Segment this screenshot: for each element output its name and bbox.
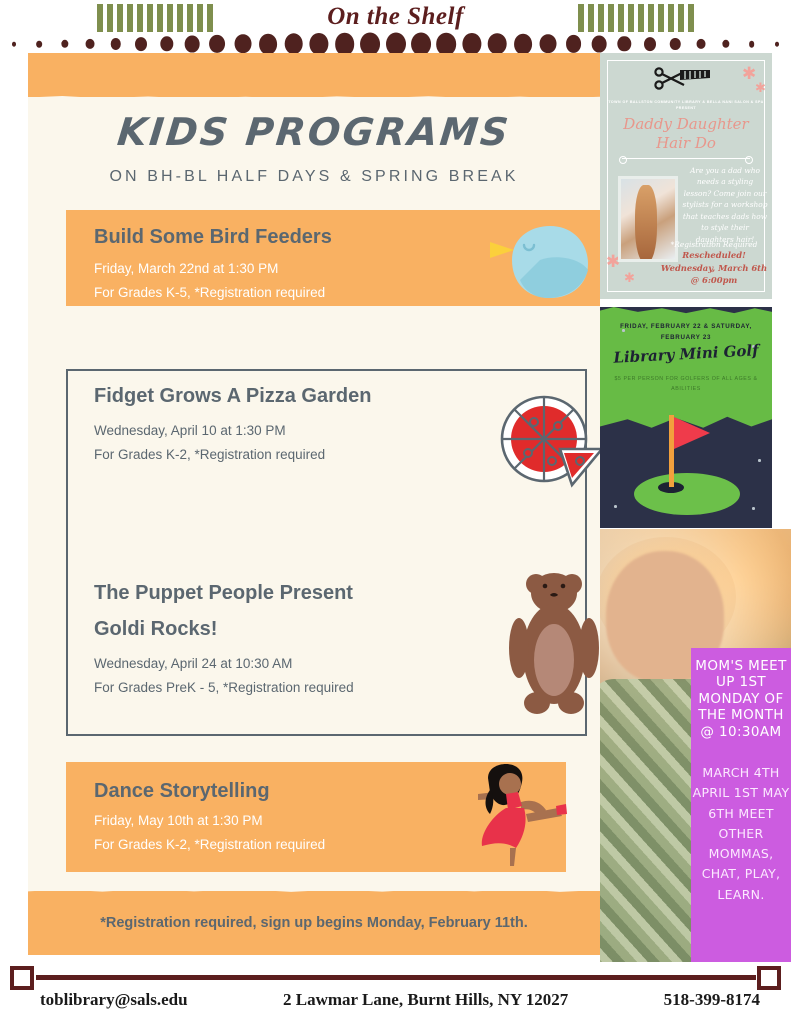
footer-square-right-decoration (757, 966, 781, 990)
golf-price: $5 PER PERSON FOR GOLFERS OF ALL AGES & … (600, 375, 772, 395)
decorative-dot (566, 35, 582, 53)
tick-mark (668, 4, 674, 32)
program-grades: For Grades K-2, *Registration required (94, 833, 325, 857)
moms-meet-up-panel: MOM'S MEET UP 1ST MONDAY OF THE MONTH @ … (691, 648, 791, 962)
asterisk-flower-icon: ✱ (755, 81, 766, 94)
program-grades: For Grades PreK - 5, *Registration requi… (94, 676, 554, 700)
decorative-dot (514, 34, 532, 55)
program-card-bird-feeders: Build Some Bird Feeders Friday, March 22… (66, 210, 600, 306)
tick-mark (648, 4, 654, 32)
program-card-pizza-garden: Fidget Grows A Pizza Garden Wednesday, A… (94, 383, 554, 466)
kids-programs-flyer: KIDS PROGRAMS ON BH-BL HALF DAYS & SPRIN… (28, 53, 600, 955)
decorative-dot (749, 41, 755, 48)
program-datetime: Wednesday, April 10 at 1:30 PM (94, 419, 554, 443)
bird-icon (484, 220, 594, 307)
tick-mark (628, 4, 634, 32)
program-title-line2: Goldi Rocks! (94, 616, 554, 643)
program-title-line1: The Puppet People Present (94, 582, 353, 604)
golf-flag-icon (674, 417, 710, 449)
tick-mark (638, 4, 644, 32)
tick-mark (578, 4, 584, 32)
moms-meet-up-heading: MOM'S MEET UP 1ST MONDAY OF THE MONTH @ … (691, 658, 791, 740)
footer-contact-info: toblibrary@sals.edu 2 Lawmar Lane, Burnt… (40, 990, 760, 1010)
poster-presenters: TOWN OF BALLSTON COMMUNITY LIBRARY & BEL… (608, 99, 764, 112)
decorative-dot (488, 33, 507, 54)
footer-email[interactable]: toblibrary@sals.edu (40, 990, 188, 1010)
program-title: Build Some Bird Feeders (94, 224, 332, 251)
poster-title: Daddy Daughter Hair Do (608, 115, 764, 153)
decorative-dot (259, 34, 277, 55)
decorative-dot (360, 33, 380, 56)
program-grades: For Grades K-5, *Registration required (94, 281, 332, 305)
decorative-dot (437, 33, 457, 56)
decorative-dot (775, 42, 779, 47)
tick-mark (678, 4, 684, 32)
footer-rule (36, 975, 756, 980)
star-dot-decoration (758, 459, 761, 462)
decorative-dot (696, 39, 705, 49)
tick-mark (598, 4, 604, 32)
decorative-dot (644, 37, 656, 51)
decorative-dot (135, 37, 147, 51)
registration-footnote: *Registration required, sign up begins M… (28, 891, 600, 955)
footer: toblibrary@sals.edu 2 Lawmar Lane, Burnt… (0, 962, 791, 1024)
moms-meet-up-dates: MARCH 4TH APRIL 1ST MAY 6TH MEET OTHER M… (691, 763, 791, 905)
poster-daddy-daughter-hair-do[interactable]: ✱ ✱ ✱ ✱ TOWN OF BALLSTON COMMUNITY LIBRA… (600, 53, 772, 299)
decorative-dot (110, 38, 121, 50)
dancer-icon (466, 764, 574, 873)
poster-divider (622, 158, 750, 159)
pizza-icon (494, 393, 600, 498)
program-card-goldi-rocks: The Puppet People Present Goldi Rocks! W… (94, 580, 554, 699)
page-subtitle: ON BH-BL HALF DAYS & SPRING BREAK (28, 168, 600, 186)
decorative-dot (61, 40, 68, 48)
tick-mark (618, 4, 624, 32)
bear-icon (502, 568, 600, 721)
decorative-dot (670, 38, 681, 50)
decorative-dot (160, 36, 173, 51)
decorative-dot (411, 33, 431, 56)
decorative-dot (284, 33, 303, 54)
footer-phone[interactable]: 518-399-8174 (664, 990, 760, 1010)
masthead: On the Shelf (0, 0, 791, 48)
program-title: The Puppet People Present Goldi Rocks! (94, 580, 554, 643)
scissors-comb-icon (654, 67, 712, 93)
program-title: Fidget Grows A Pizza Garden (94, 383, 554, 410)
poster-title-line2: Hair Do (656, 134, 716, 152)
golf-putting-green (634, 473, 740, 515)
poster-rescheduled-note: Rescheduled! Wednesday, March 6th @ 6:00… (660, 249, 768, 287)
decorative-dot (462, 33, 481, 55)
dot-row-decoration (0, 33, 791, 55)
program-datetime: Friday, May 10th at 1:30 PM (94, 809, 325, 833)
poster-library-mini-golf[interactable]: FRIDAY, FEBRUARY 22 & SATURDAY, FEBRUARY… (600, 307, 772, 528)
poster-body-text: Are you a dad who needs a styling lesson… (682, 165, 768, 245)
program-card-dance-storytelling: Dance Storytelling Friday, May 10th at 1… (66, 762, 566, 872)
decorative-dot (210, 35, 226, 53)
decorative-dot (86, 39, 95, 49)
footer-square-left-decoration (10, 966, 34, 990)
footer-address: 2 Lawmar Lane, Burnt Hills, NY 12027 (283, 990, 568, 1010)
decorative-dot (185, 36, 200, 53)
asterisk-flower-icon: ✱ (624, 271, 635, 284)
tick-marks-right-decoration (578, 4, 694, 32)
decorative-dot (234, 34, 251, 53)
tick-mark (688, 4, 694, 32)
decorative-dot (540, 34, 557, 53)
tick-mark (658, 4, 664, 32)
decorative-dot (37, 41, 43, 48)
program-datetime: Friday, March 22nd at 1:30 PM (94, 257, 332, 281)
tick-mark (588, 4, 594, 32)
star-dot-decoration (614, 505, 617, 508)
sidebar-posters: ✱ ✱ ✱ ✱ TOWN OF BALLSTON COMMUNITY LIBRA… (600, 53, 791, 962)
poster-moms-meet-up[interactable]: MOM'S MEET UP 1ST MONDAY OF THE MONTH @ … (600, 529, 791, 962)
program-title: Dance Storytelling (94, 778, 325, 805)
poster-title-line1: Daddy Daughter (623, 115, 748, 133)
page-title: KIDS PROGRAMS (28, 110, 600, 154)
program-text: Build Some Bird Feeders Friday, March 22… (94, 224, 332, 304)
braid-shape (635, 185, 657, 262)
decorative-dot (592, 36, 607, 53)
program-text: Dance Storytelling Friday, May 10th at 1… (94, 778, 325, 856)
tick-mark (608, 4, 614, 32)
golf-dates: FRIDAY, FEBRUARY 22 & SATURDAY, FEBRUARY… (600, 321, 772, 343)
decorative-dot (12, 42, 16, 47)
program-grades: For Grades K-2, *Registration required (94, 443, 554, 467)
decorative-dot (335, 33, 355, 56)
program-datetime: Wednesday, April 24 at 10:30 AM (94, 652, 554, 676)
decorative-dot (722, 40, 729, 48)
star-dot-decoration (752, 507, 755, 510)
flyer-top-orange-band (28, 53, 600, 97)
decorative-dot (618, 36, 631, 51)
decorative-dot (310, 33, 329, 55)
